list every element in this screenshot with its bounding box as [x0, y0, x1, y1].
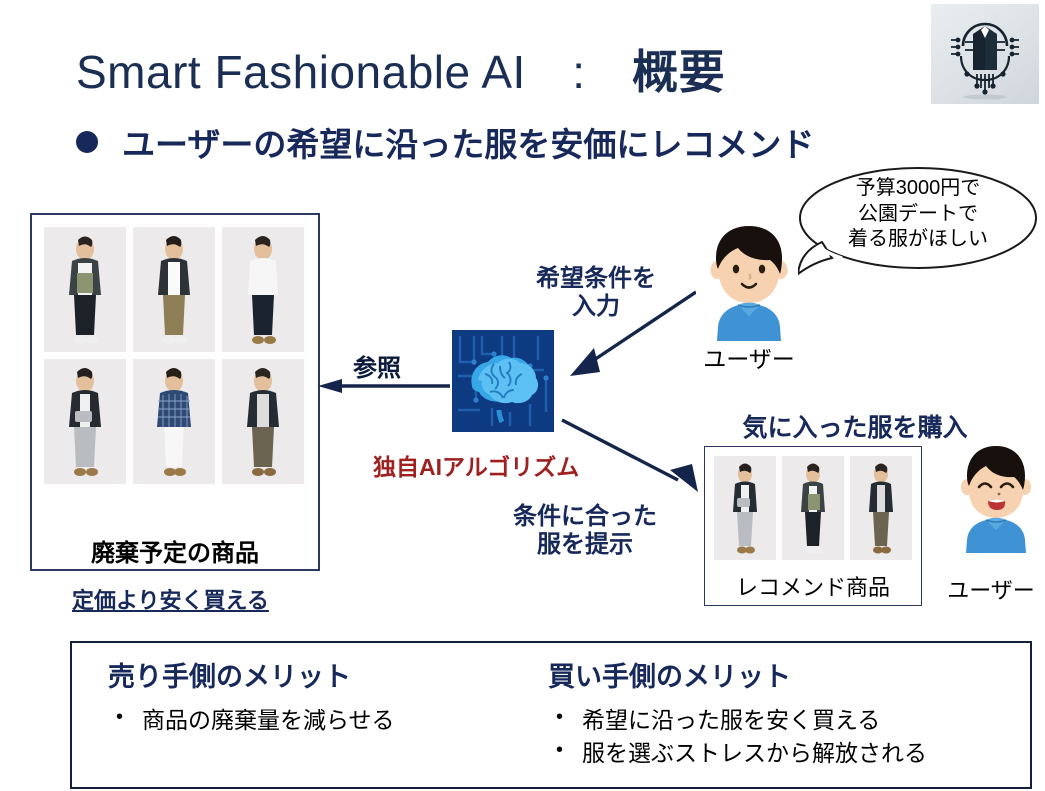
list-item: 服を選ぶストレスから解放される: [548, 737, 1018, 770]
cheaper-price-note: 定価より安く買える: [72, 583, 269, 615]
product-photo: [714, 456, 776, 560]
discard-products-box: [30, 213, 320, 571]
subtitle-row: ユーザーの希望に沿った服を安価にレコメンド: [76, 118, 814, 166]
seller-merits-title: 売り手側のメリット: [108, 655, 548, 694]
product-photo: [133, 359, 215, 484]
list-item: 商品の廃棄量を減らせる: [108, 704, 548, 737]
page-title-jp: 概要: [632, 46, 725, 98]
suit-circuit-logo-icon: [931, 4, 1039, 104]
page-title: Smart Fashionable AI : 概要: [76, 36, 725, 102]
ai-brain-circuit-icon: [452, 330, 554, 432]
reference-label: 参照: [353, 348, 401, 383]
page-title-en: Smart Fashionable AI :: [76, 46, 632, 98]
product-photo: [222, 227, 304, 352]
speech-bubble-line1: 予算3000円で: [802, 176, 1034, 202]
speech-bubble-text: 予算3000円で 公園デートで 着る服がほしい: [802, 176, 1034, 253]
recommend-photo-grid: [714, 456, 914, 560]
merits-box: 売り手側のメリット 商品の廃棄量を減らせる 買い手側のメリット 希望に沿った服を…: [70, 641, 1032, 789]
speech-bubble-line2: 公園デートで: [802, 202, 1034, 228]
ai-algorithm-label: 独自AIアルゴリズム: [373, 448, 579, 482]
speech-bubble-line3: 着る服がほしい: [802, 227, 1034, 253]
buyer-merits-list: 希望に沿った服を安く買える 服を選ぶストレスから解放される: [548, 704, 1018, 769]
buyer-merits-title: 買い手側のメリット: [548, 655, 1018, 694]
user-avatar-smiling-icon: [952, 443, 1040, 553]
subtitle-text: ユーザーの希望に沿った服を安価にレコメンド: [122, 118, 814, 166]
recommended-products-label: レコメンド商品: [704, 570, 922, 602]
suggest-clothes-line2: 服を提示: [513, 531, 657, 559]
product-photo: [850, 456, 912, 560]
seller-merits-list: 商品の廃棄量を減らせる: [108, 704, 548, 737]
reference-arrow-icon: [318, 379, 450, 393]
bullet-dot-icon: [76, 131, 98, 153]
user-right-label: ユーザー: [936, 573, 1045, 605]
list-item: 希望に沿った服を安く買える: [548, 704, 1018, 737]
buyer-merits-column: 買い手側のメリット 希望に沿った服を安く買える 服を選ぶストレスから解放される: [548, 643, 1018, 787]
suggest-arrow-icon: [560, 418, 710, 503]
product-photo: [44, 359, 126, 484]
discard-products-label: 廃棄予定の商品: [30, 533, 320, 568]
product-photo: [133, 227, 215, 352]
suggest-clothes-label: 条件に合った 服を提示: [513, 503, 657, 560]
seller-merits-column: 売り手側のメリット 商品の廃棄量を減らせる: [72, 643, 548, 787]
product-photo: [44, 227, 126, 352]
discard-photo-grid: [44, 227, 306, 484]
purchase-label: 気に入った服を購入: [700, 408, 1010, 444]
user-top-label: ユーザー: [694, 340, 804, 374]
product-photo: [782, 456, 844, 560]
user-avatar-icon: [694, 222, 804, 342]
product-photo: [222, 359, 304, 484]
suggest-clothes-line1: 条件に合った: [513, 503, 657, 531]
input-arrow-icon: [556, 288, 696, 378]
